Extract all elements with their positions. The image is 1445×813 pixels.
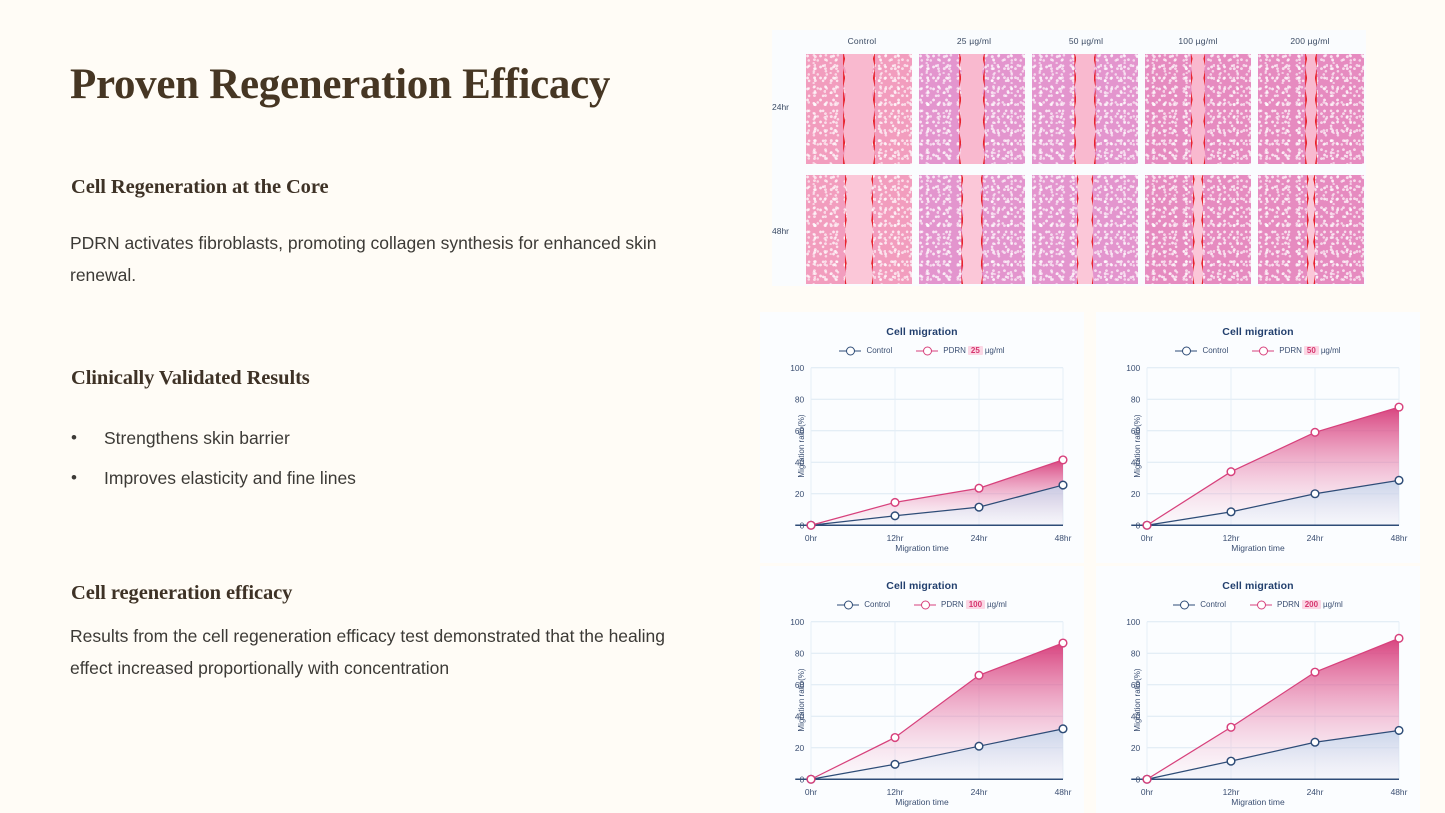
legend-label-pdrn: PDRN50µg/ml [1279,346,1340,355]
svg-text:12hr: 12hr [887,787,904,797]
svg-text:100: 100 [790,363,804,373]
svg-text:0hr: 0hr [805,533,817,543]
scratch-gap [1074,54,1095,164]
migration-line-chart: 0204060801000hr12hr24hr48hr [784,615,1072,806]
legend-marker-icon [1250,600,1272,609]
legend-item-control[interactable]: Control [1175,346,1228,355]
list-item-label: Strengthens skin barrier [104,428,290,448]
plot-area: Migration ratio(%)0204060801000hr12hr24h… [1104,361,1412,531]
legend-item-control[interactable]: Control [1173,600,1226,609]
svg-text:48hr: 48hr [1391,787,1408,797]
plot-area: Migration ratio(%)0204060801000hr12hr24h… [768,361,1076,531]
legend-concentration-badge: 200 [1302,600,1321,609]
svg-text:80: 80 [1131,395,1141,405]
plot-area: Migration ratio(%)0204060801000hr12hr24h… [1104,615,1412,785]
svg-text:20: 20 [1131,489,1141,499]
legend-concentration-badge: 25 [968,346,983,355]
svg-text:20: 20 [795,489,805,499]
micrograph-cell [919,54,1025,164]
svg-text:40: 40 [795,458,805,468]
svg-text:24hr: 24hr [971,533,988,543]
scratch-gap [1077,175,1094,285]
scratch-gap [1305,54,1317,164]
chart-card-50: Cell migrationControlPDRN50µg/mlMigratio… [1096,312,1420,563]
legend-item-pdrn[interactable]: PDRN200µg/ml [1250,600,1343,609]
legend-item-control[interactable]: Control [837,600,890,609]
micrograph-col-label: 50 µg/ml [1030,36,1142,54]
legend-marker-icon [837,600,859,609]
list-item: • Strengthens skin barrier [68,418,628,458]
chart-title: Cell migration [1104,326,1412,338]
legend-label-control: Control [1200,600,1226,609]
chart-legend: ControlPDRN100µg/ml [768,600,1076,609]
legend-marker-icon [1252,346,1274,355]
chart-title: Cell migration [1104,580,1412,592]
micrograph-cell [1145,54,1251,164]
legend-marker-icon [916,346,938,355]
svg-text:24hr: 24hr [1307,787,1324,797]
svg-text:0: 0 [800,775,805,785]
micrograph-cell [806,54,912,164]
svg-text:40: 40 [795,712,805,722]
legend-item-pdrn[interactable]: PDRN100µg/ml [914,600,1007,609]
svg-text:60: 60 [795,426,805,436]
chart-legend: ControlPDRN200µg/ml [1104,600,1412,609]
bullet-icon: • [71,418,77,458]
legend-label-control: Control [1202,346,1228,355]
legend-label-control: Control [866,346,892,355]
scratch-gap [1193,175,1204,285]
chart-title: Cell migration [768,326,1076,338]
micrograph-cell [1258,175,1364,285]
svg-text:20: 20 [1131,743,1141,753]
page-title: Proven Regeneration Efficacy [70,60,610,109]
chart-card-25: Cell migrationControlPDRN25µg/mlMigratio… [760,312,1084,563]
scratch-gap [845,175,874,285]
micrograph-cell [1258,54,1364,164]
chart-card-100: Cell migrationControlPDRN100µg/mlMigrati… [760,566,1084,813]
svg-text:0: 0 [1136,521,1141,531]
micrograph-cell [806,175,912,285]
micrograph-col-label: 25 µg/ml [918,36,1030,54]
svg-text:100: 100 [790,617,804,627]
legend-label-pdrn: PDRN200µg/ml [1277,600,1343,609]
chart-title: Cell migration [768,580,1076,592]
legend-item-control[interactable]: Control [839,346,892,355]
chart-legend: ControlPDRN50µg/ml [1104,346,1412,355]
svg-text:20: 20 [795,743,805,753]
svg-text:24hr: 24hr [971,787,988,797]
section-heading-clinical-results: Clinically Validated Results [71,367,310,390]
migration-line-chart: 0204060801000hr12hr24hr48hr [784,361,1072,552]
legend-item-pdrn[interactable]: PDRN25µg/ml [916,346,1004,355]
cell-migration-chart-grid: Cell migrationControlPDRN25µg/mlMigratio… [760,312,1420,782]
list-item: • Improves elasticity and fine lines [68,458,628,498]
list-item-label: Improves elasticity and fine lines [104,468,356,488]
svg-text:12hr: 12hr [1223,787,1240,797]
chart-card-200: Cell migrationControlPDRN200µg/mlMigrati… [1096,566,1420,813]
legend-marker-icon [839,346,861,355]
svg-text:48hr: 48hr [1055,787,1072,797]
svg-text:80: 80 [795,395,805,405]
legend-label-pdrn: PDRN100µg/ml [941,600,1007,609]
slide-root: Proven Regeneration Efficacy Cell Regene… [0,0,1445,813]
clinical-results-list: • Strengthens skin barrier • Improves el… [68,418,628,498]
svg-text:12hr: 12hr [1223,533,1240,543]
migration-line-chart: 0204060801000hr12hr24hr48hr [1120,615,1408,806]
legend-marker-icon [914,600,936,609]
micrograph-row-48hr [806,175,1364,285]
section-heading-efficacy: Cell regeneration efficacy [71,582,292,605]
plot-area: Migration ratio(%)0204060801000hr12hr24h… [768,615,1076,785]
micrograph-row-cells [806,175,1364,285]
micrograph-cell [1032,54,1138,164]
svg-text:0hr: 0hr [1141,787,1153,797]
svg-text:40: 40 [1131,712,1141,722]
micrograph-cell [919,175,1025,285]
svg-text:0: 0 [800,521,805,531]
bullet-icon: • [71,458,77,498]
svg-text:12hr: 12hr [887,533,904,543]
scratch-gap [1307,175,1315,285]
micrograph-cell [1032,175,1138,285]
svg-text:100: 100 [1126,617,1140,627]
svg-text:40: 40 [1131,458,1141,468]
micrograph-row-24hr [806,54,1364,164]
scratch-gap [1191,54,1206,164]
micrograph-column-headers: Control 25 µg/ml 50 µg/ml 100 µg/ml 200 … [806,36,1366,54]
svg-text:60: 60 [1131,680,1141,690]
svg-text:60: 60 [1131,426,1141,436]
micrograph-row-label-48hr: 48hr [772,226,806,236]
legend-label-pdrn: PDRN25µg/ml [943,346,1004,355]
section-body-cell-regeneration: PDRN activates fibroblasts, promoting co… [70,227,670,291]
micrograph-col-label: Control [806,36,918,54]
scratch-gap [843,54,875,164]
migration-line-chart: 0204060801000hr12hr24hr48hr [1120,361,1408,552]
svg-text:0: 0 [1136,775,1141,785]
legend-concentration-badge: 50 [1304,346,1319,355]
section-body-efficacy: Results from the cell regeneration effic… [70,620,710,684]
left-content-column: Proven Regeneration Efficacy Cell Regene… [0,0,740,813]
legend-item-pdrn[interactable]: PDRN50µg/ml [1252,346,1340,355]
svg-text:48hr: 48hr [1055,533,1072,543]
legend-label-control: Control [864,600,890,609]
micrograph-col-label: 100 µg/ml [1142,36,1254,54]
section-heading-cell-regeneration: Cell Regeneration at the Core [71,176,328,199]
svg-text:100: 100 [1126,363,1140,373]
scratch-gap [959,54,984,164]
micrograph-row-cells [806,54,1364,164]
svg-text:0hr: 0hr [1141,533,1153,543]
legend-concentration-badge: 100 [966,600,985,609]
micrograph-col-label: 200 µg/ml [1254,36,1366,54]
svg-text:80: 80 [795,649,805,659]
micrograph-panel: Control 25 µg/ml 50 µg/ml 100 µg/ml 200 … [772,30,1366,286]
svg-text:0hr: 0hr [805,787,817,797]
micrograph-grid [806,54,1364,284]
svg-text:80: 80 [1131,649,1141,659]
legend-marker-icon [1173,600,1195,609]
scratch-gap [961,175,982,285]
svg-text:48hr: 48hr [1391,533,1408,543]
legend-marker-icon [1175,346,1197,355]
svg-text:60: 60 [795,680,805,690]
micrograph-cell [1145,175,1251,285]
chart-legend: ControlPDRN25µg/ml [768,346,1076,355]
micrograph-row-label-24hr: 24hr [772,102,806,112]
svg-text:24hr: 24hr [1307,533,1324,543]
